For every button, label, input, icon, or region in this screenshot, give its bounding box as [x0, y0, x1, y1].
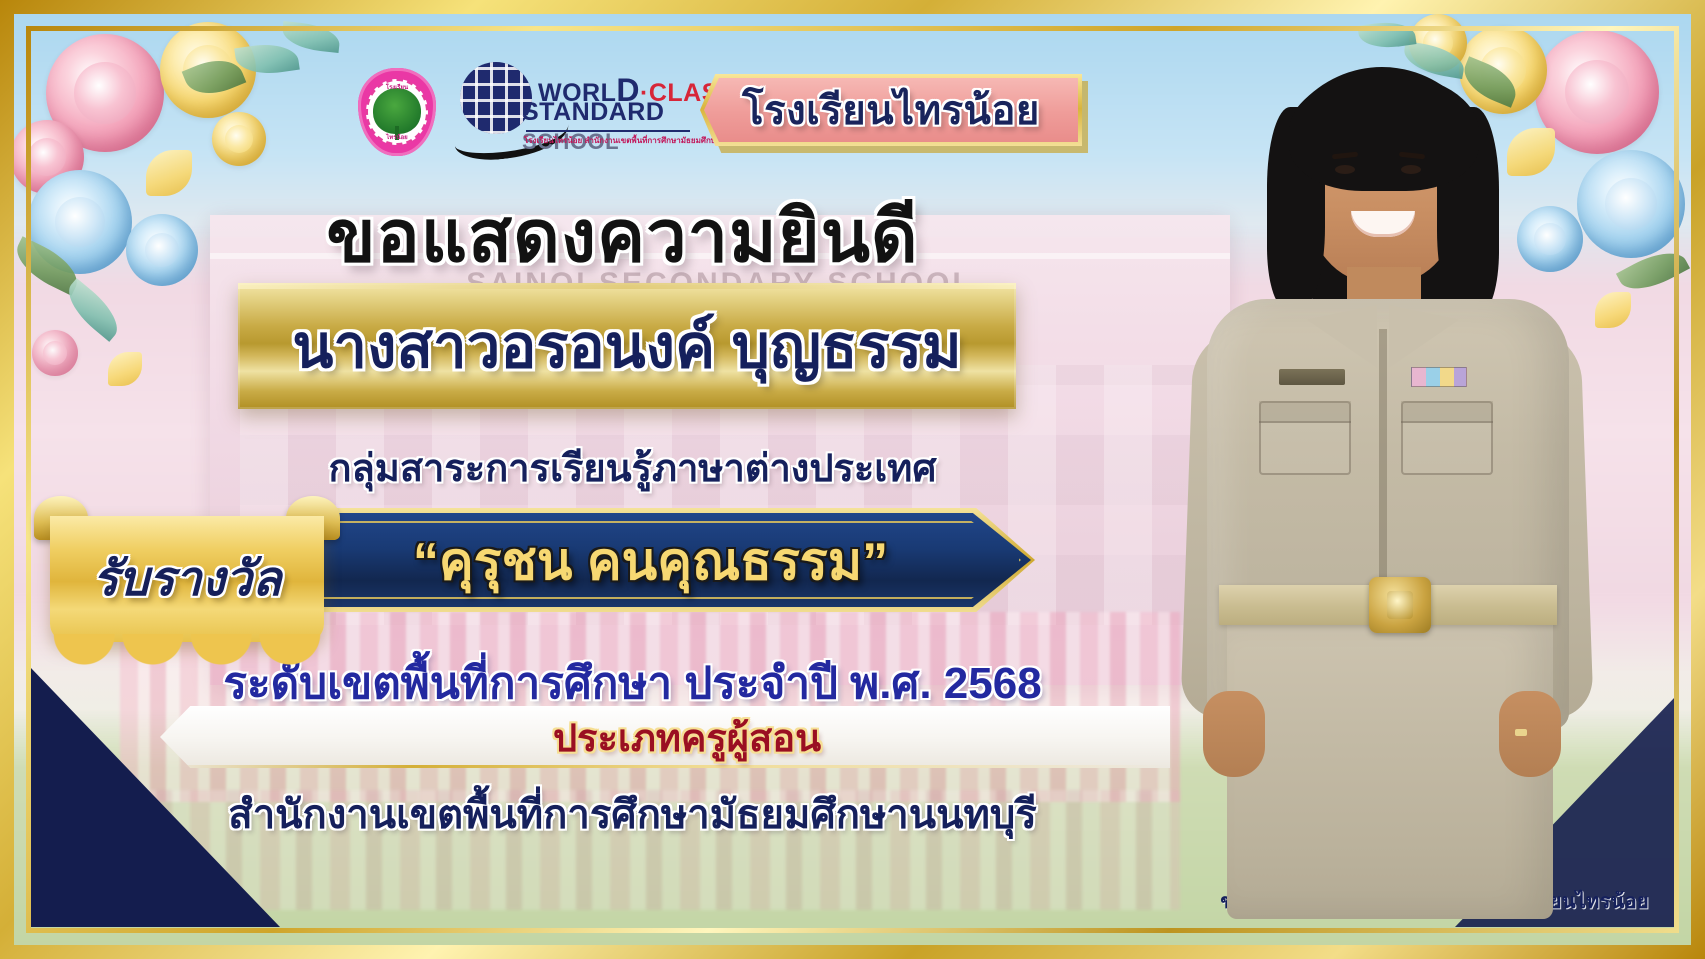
award-name-ribbon: “คุรุชน คนคุณธรรม”: [300, 508, 1035, 612]
school-name-ribbon: โรงเรียนไทรน้อย: [700, 74, 1082, 146]
certificate-canvas: SAINOI SECONDARY SCHOOL โรงเรียน ไทรน้อย: [0, 0, 1705, 959]
school-seal-logo: โรงเรียน ไทรน้อย: [358, 68, 436, 156]
pink-rose-icon: [32, 330, 78, 376]
seal-tree-icon: [373, 88, 421, 134]
credit-label: ข่าวประชาสัมพันธ์ งานบุคลากรโรงเรียนไทรน…: [1220, 885, 1649, 917]
blue-bloom-icon: [1577, 150, 1685, 258]
education-office-label: สำนักงานเขตพื้นที่การศึกษามัธยมศึกษานนทบ…: [0, 782, 1485, 846]
award-prefix-scroll: รับรางวัล: [32, 490, 342, 646]
wcs-line-2: STANDARD SCHOOL: [522, 98, 692, 156]
honoree-name: นางสาวอรอนงค์ บุญธรรม: [238, 283, 1016, 409]
page-title: ขอแสดงความยินดี: [0, 178, 1475, 293]
award-name: “คุรุชน คนคุณธรรม”: [300, 508, 1035, 612]
award-prefix-label: รับรางวัล: [50, 516, 324, 642]
wcs-subtitle: โรงเรียนไทรน้อย สำนักงานเขตพื้นที่การศึก…: [524, 134, 704, 147]
honoree-name-plate: นางสาวอรอนงค์ บุญธรรม: [238, 283, 1016, 409]
department-label: กลุ่มสาระการเรียนรู้ภาษาต่างประเทศ: [0, 437, 1485, 498]
wcs-d-2: D: [646, 98, 665, 126]
wcs-divider: [526, 130, 690, 132]
seal-bottom-label: ไทรน้อย: [358, 132, 436, 142]
blue-bloom-icon: [1517, 206, 1583, 272]
wcs-standar: STANDAR: [522, 98, 646, 126]
award-category-label: ประเภทครูผู้สอน: [160, 706, 1170, 768]
school-name-label: โรงเรียนไทรน้อย: [700, 74, 1082, 146]
seal-top-label: โรงเรียน: [358, 82, 436, 92]
yellow-rose-icon: [212, 112, 266, 166]
world-class-standard-school-logo: WORLD·CLASS STANDARD SCHOOL โรงเรียนไทรน…: [452, 60, 692, 160]
